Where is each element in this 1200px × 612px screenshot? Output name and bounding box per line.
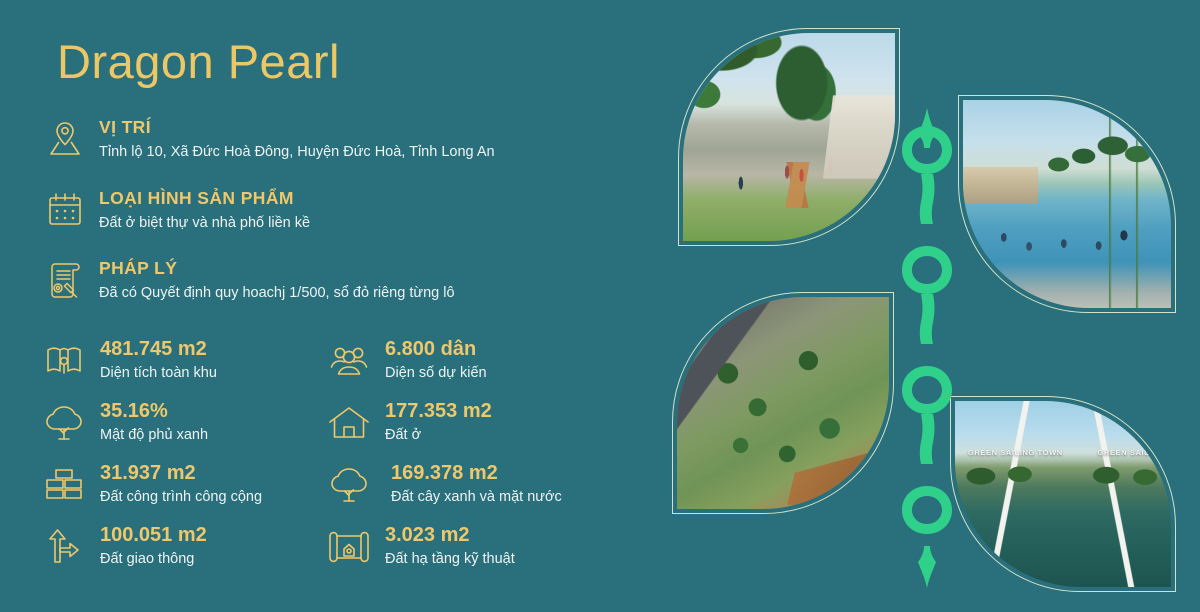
stat-label: Đất công trình công cộng xyxy=(100,487,262,507)
stat-traffic-land: 100.051 m2 Đất giao thông xyxy=(40,521,325,583)
page-title: Dragon Pearl xyxy=(57,34,340,89)
stat-label: Đất ở xyxy=(385,425,492,445)
stat-value: 6.800 dân xyxy=(385,338,487,360)
feature-heading: PHÁP LÝ xyxy=(99,258,455,280)
feature-legal: PHÁP LÝ Đã có Quyết định quy hoachj 1/50… xyxy=(45,256,455,304)
feature-heading: LOẠI HÌNH SẢN PHẨM xyxy=(99,188,310,210)
tree-icon xyxy=(325,461,373,509)
feature-subtext: Tỉnh lộ 10, Xã Đức Hoà Đông, Huyện Đức H… xyxy=(99,142,495,163)
stat-value: 3.023 m2 xyxy=(385,524,515,546)
map-book-icon xyxy=(40,337,88,385)
tree-icon xyxy=(40,399,88,447)
stat-technical-infrastructure: 3.023 m2 Đất hạ tầng kỹ thuật xyxy=(325,521,610,583)
photo-aerial-township xyxy=(672,292,894,514)
stat-green-density: 35.16% Mật độ phủ xanh xyxy=(40,397,325,459)
feature-heading: VỊ TRÍ xyxy=(99,117,495,139)
photo-canal-bridge: GREEN SAILING TOWN GREEN SAILIN xyxy=(950,396,1176,592)
stat-value: 481.745 m2 xyxy=(100,338,217,360)
dragon-pearl-infographic: Dragon Pearl VỊ TRÍ Tỉnh lộ 10, Xã Đức H… xyxy=(0,0,1200,612)
stat-population: 6.800 dân Diện số dự kiến xyxy=(325,335,610,397)
photo-park-plaza xyxy=(678,28,900,246)
stat-green-and-water: 169.378 m2 Đất cây xanh và mặt nước xyxy=(325,459,610,521)
stat-label: Đất hạ tầng kỹ thuật xyxy=(385,549,515,569)
stat-residential-land: 177.353 m2 Đất ở xyxy=(325,397,610,459)
location-pin-icon xyxy=(45,117,85,161)
feature-location: VỊ TRÍ Tỉnh lộ 10, Xã Đức Hoà Đông, Huyệ… xyxy=(45,115,495,163)
feature-product-type: LOẠI HÌNH SẢN PHẨM Đất ở biệt thự và nhà… xyxy=(45,186,310,234)
stat-value: 35.16% xyxy=(100,400,208,422)
stat-label: Đất cây xanh và mặt nước xyxy=(391,487,562,507)
house-icon xyxy=(325,399,373,447)
stat-value: 31.937 m2 xyxy=(100,462,262,484)
legal-scroll-icon xyxy=(45,258,85,302)
blueprint-icon xyxy=(325,523,373,571)
road-arrow-icon xyxy=(40,523,88,571)
leaf-stem-chain xyxy=(896,108,958,588)
stat-value: 177.353 m2 xyxy=(385,400,492,422)
stat-label: Diện tích toàn khu xyxy=(100,363,217,383)
stat-public-works: 31.937 m2 Đất công trình công cộng xyxy=(40,459,325,521)
calendar-icon xyxy=(45,188,85,232)
stat-value: 100.051 m2 xyxy=(100,524,207,546)
left-info-panel: Dragon Pearl VỊ TRÍ Tỉnh lộ 10, Xã Đức H… xyxy=(0,0,650,612)
feature-subtext: Đất ở biệt thự và nhà phố liền kề xyxy=(99,213,310,234)
stat-total-area: 481.745 m2 Diện tích toàn khu xyxy=(40,335,325,397)
stat-label: Đất giao thông xyxy=(100,549,207,569)
stat-value: 169.378 m2 xyxy=(391,462,562,484)
statistics-grid: 481.745 m2 Diện tích toàn khu xyxy=(40,335,640,583)
photo-swimming-pool xyxy=(958,95,1176,313)
stat-label: Diện số dự kiến xyxy=(385,363,487,383)
stat-label: Mật độ phủ xanh xyxy=(100,425,208,445)
people-icon xyxy=(325,337,373,385)
brick-wall-icon xyxy=(40,461,88,509)
feature-subtext: Đã có Quyết định quy hoachj 1/500, sổ đỏ… xyxy=(99,283,455,304)
